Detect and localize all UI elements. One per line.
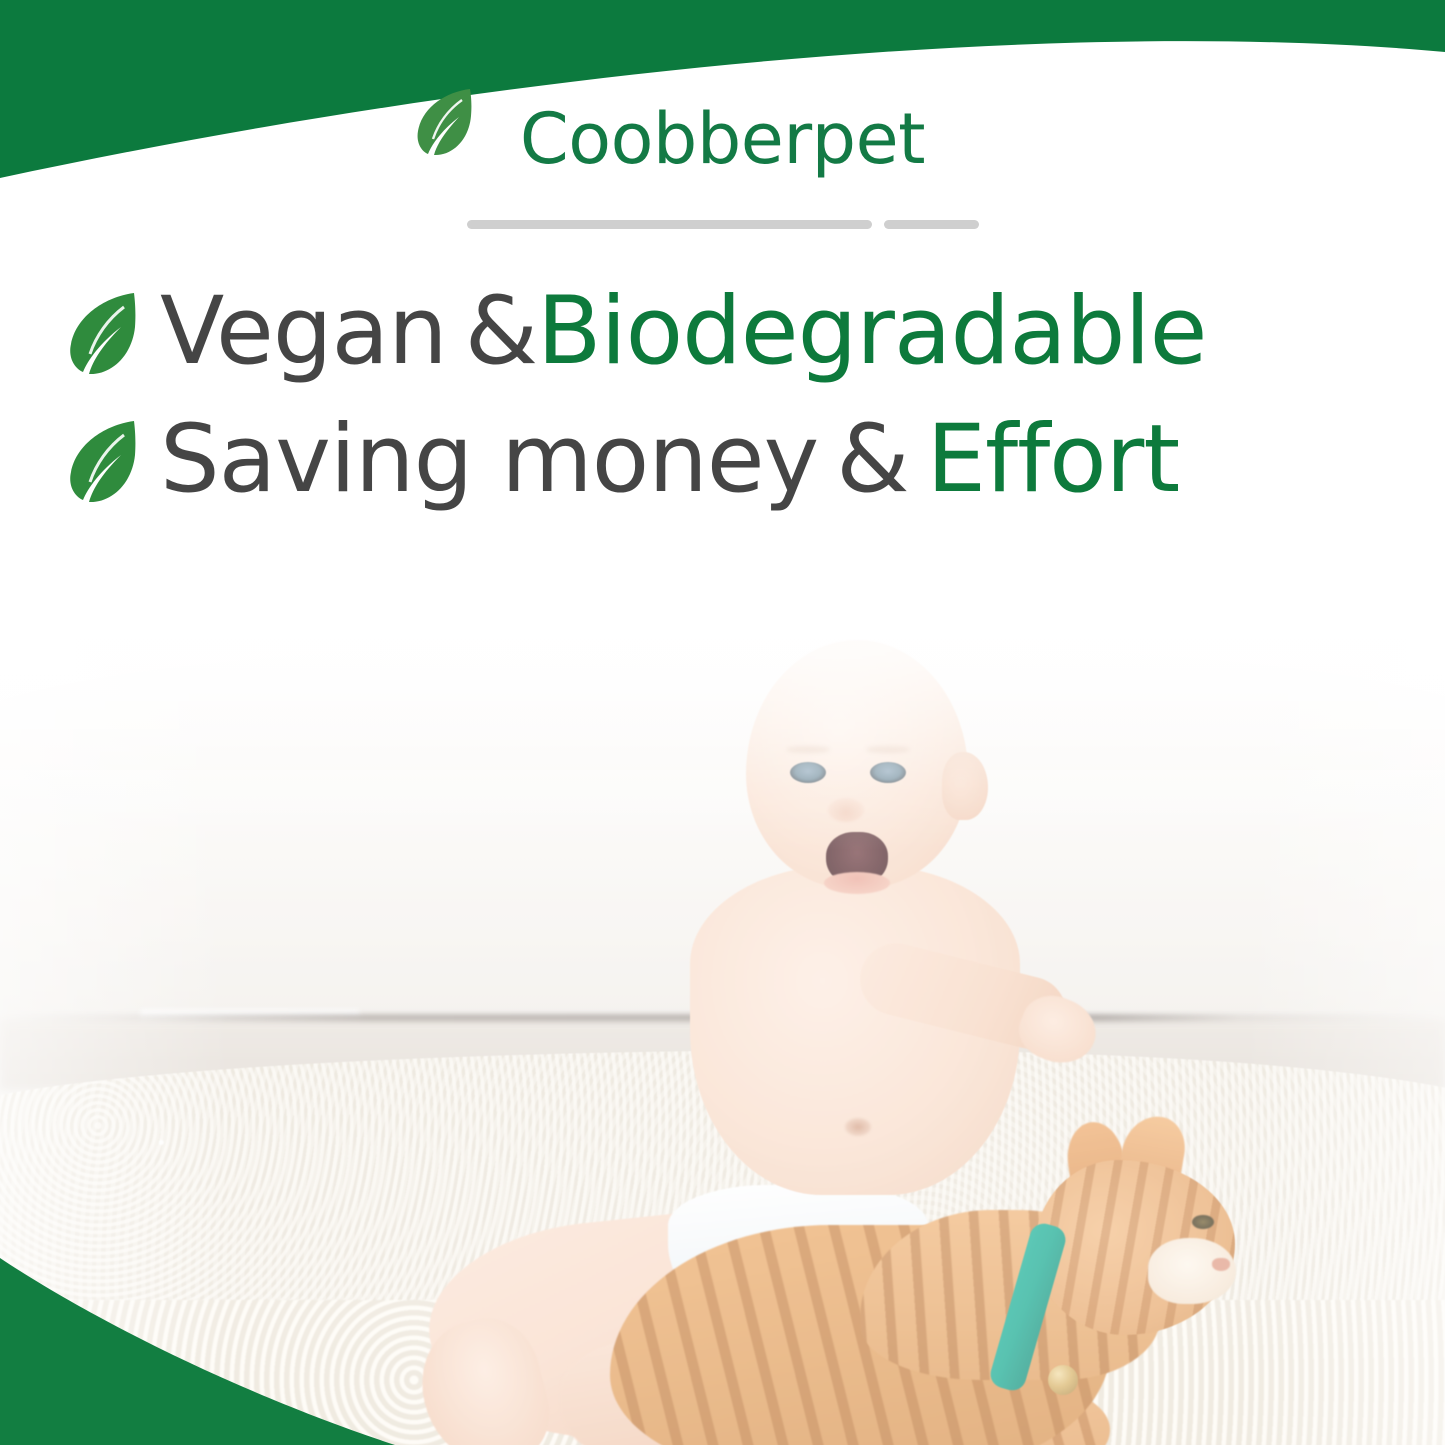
- brand-logo: Coobberpet: [0, 104, 1445, 174]
- baby-lower-lip: [824, 872, 890, 894]
- leaf-icon: [412, 86, 474, 156]
- feature-text-part-3: Effort: [927, 405, 1180, 514]
- divider-bar-short: [884, 220, 979, 229]
- leaf-bullet-icon: [66, 289, 138, 375]
- feature-item-text: Saving money&Effort: [160, 413, 1179, 507]
- baby-eyebrow-left: [786, 746, 830, 753]
- divider-bar-long: [467, 220, 872, 229]
- brand-name: Coobberpet: [520, 104, 925, 174]
- feature-text-part-1: Vegan: [160, 277, 447, 386]
- divider: [0, 220, 1445, 229]
- baby-ear: [942, 752, 988, 820]
- leaf-bullet-icon: [66, 417, 138, 503]
- feature-text-part-1: Saving money: [160, 405, 818, 514]
- cat-nose: [1212, 1258, 1230, 1271]
- cat-eye: [1192, 1215, 1214, 1229]
- baby-nose: [828, 798, 864, 822]
- baby-eye-left: [790, 762, 826, 783]
- feature-text-part-2: &: [465, 277, 537, 386]
- feature-text-part-3: Biodegradable: [537, 277, 1206, 386]
- baby-eyebrow-right: [866, 746, 910, 753]
- feature-item-saving-money-effort: Saving money&Effort: [0, 396, 1445, 524]
- lifestyle-photo: [0, 520, 1445, 1445]
- feature-text-part-2: &: [836, 405, 908, 514]
- feature-list: Vegan&Biodegradable Saving money&Effort: [0, 268, 1445, 524]
- promo-poster: Coobberpet Vegan&Biodegradable: [0, 0, 1445, 1445]
- feature-item-vegan-biodegradable: Vegan&Biodegradable: [0, 268, 1445, 396]
- cat-muzzle: [1148, 1238, 1236, 1304]
- baby-navel: [845, 1118, 871, 1136]
- cat-collar-bell: [1048, 1365, 1078, 1395]
- feature-item-text: Vegan&Biodegradable: [160, 285, 1206, 379]
- baby-eye-right: [870, 762, 906, 783]
